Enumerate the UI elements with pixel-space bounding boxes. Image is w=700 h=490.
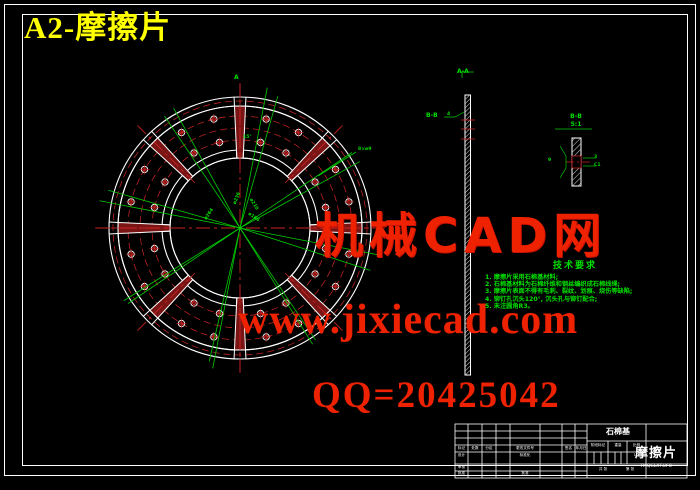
page-title: A2-摩擦片 [24, 10, 171, 46]
watermark-site-cn: 机械CAD网 [315, 196, 607, 266]
tb-sheet-total: 共 张 [590, 467, 616, 471]
tb-part-name: 摩擦片 [627, 442, 685, 461]
dim-thickness: 4 [447, 112, 450, 117]
tb-header-mark: 标记 [455, 446, 468, 450]
tb-row-label-design: 设计 [455, 453, 468, 457]
tb-approve-label: 批准 [510, 471, 540, 475]
tb-weight-header: 重量 [609, 443, 627, 447]
dim-angle: 15° [243, 135, 252, 140]
section-a-a-label: A-A [457, 68, 469, 75]
tb-row-label-process: 批准 [455, 471, 468, 475]
title-block: 标记 处数 分区 更改文件号 签名 年月日 设计 审核 批准 标准化 批准 阶段… [455, 424, 687, 478]
tb-header-date: 年月日 [575, 446, 587, 450]
technical-requirement-line: 3. 摩擦片表面不得有毛刺、裂纹、划痕、烧伤等缺陷; [485, 288, 665, 295]
dim-detail-w: 9 [548, 158, 551, 163]
tb-header-sign: 签名 [562, 446, 575, 450]
tb-stage-header: 阶段标记 [588, 443, 608, 447]
tb-header-qty: 处数 [468, 446, 482, 450]
section-b-b-arrow-label: B-B [426, 112, 438, 119]
tb-material: 石棉基 [588, 426, 648, 437]
tb-drawing-number: TMQCLXT.LY-8 [627, 464, 685, 469]
watermark-qq: QQ=20425042 [312, 374, 561, 417]
view-arrow-a-label: A [234, 74, 239, 81]
detail-b-b-label: B-B [565, 113, 587, 120]
detail-b-b-scale: 5:1 [565, 121, 587, 128]
dim-detail-c: C1 [594, 163, 601, 168]
tb-header-change-file: 更改文件号 [510, 446, 540, 450]
dim-hole-callout: 8×ø9 [358, 147, 371, 152]
watermark-url: www.jixiecad.com [238, 296, 578, 344]
tb-standardize-label: 标准化 [510, 453, 540, 457]
tb-row-label-review: 审核 [455, 465, 468, 469]
dim-detail-h: 3 [594, 155, 597, 160]
tb-header-zone: 分区 [482, 446, 496, 450]
cad-drawing-canvas: A2-摩擦片 [0, 0, 700, 490]
